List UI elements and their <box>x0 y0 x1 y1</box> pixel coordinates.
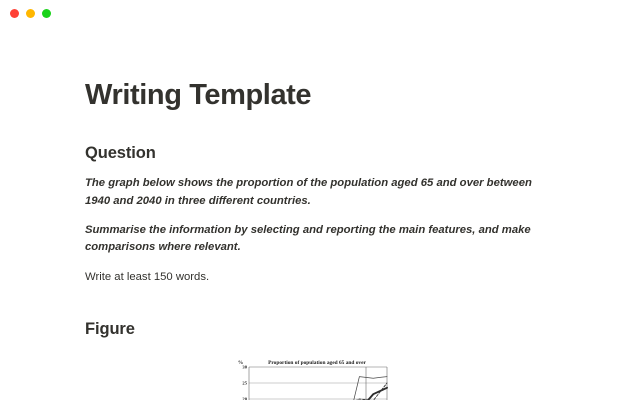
proportion-of-population-line-chart: % Proportion of population aged 65 and o… <box>235 355 395 400</box>
document-area: Writing Template Question The graph belo… <box>0 26 640 400</box>
figure-section-heading: Figure <box>85 319 640 340</box>
figure-container: % Proportion of population aged 65 and o… <box>85 355 640 400</box>
chart-image: % Proportion of population aged 65 and o… <box>235 355 395 400</box>
chart-y-tick-20: 20 <box>242 397 247 400</box>
minimize-window-button[interactable] <box>26 9 35 18</box>
question-prompt-paragraph-2: Summarise the information by selecting a… <box>85 222 540 256</box>
question-section-heading: Question <box>85 143 640 164</box>
close-window-button[interactable] <box>10 9 19 18</box>
chart-y-tick-30: 30 <box>242 365 247 370</box>
maximize-window-button[interactable] <box>42 9 51 18</box>
page-title: Writing Template <box>85 78 640 113</box>
question-prompt-paragraph-1: The graph below shows the proportion of … <box>85 175 540 209</box>
document-content: Writing Template Question The graph belo… <box>0 78 640 400</box>
chart-title: Proportion of population aged 65 and ove… <box>268 360 366 366</box>
window-titlebar <box>0 0 640 26</box>
traffic-light-group <box>10 9 51 18</box>
chart-y-tick-25: 25 <box>242 381 247 386</box>
word-count-note: Write at least 150 words. <box>85 269 540 286</box>
chart-y-axis-tick-labels: 3025201510 <box>242 365 247 400</box>
